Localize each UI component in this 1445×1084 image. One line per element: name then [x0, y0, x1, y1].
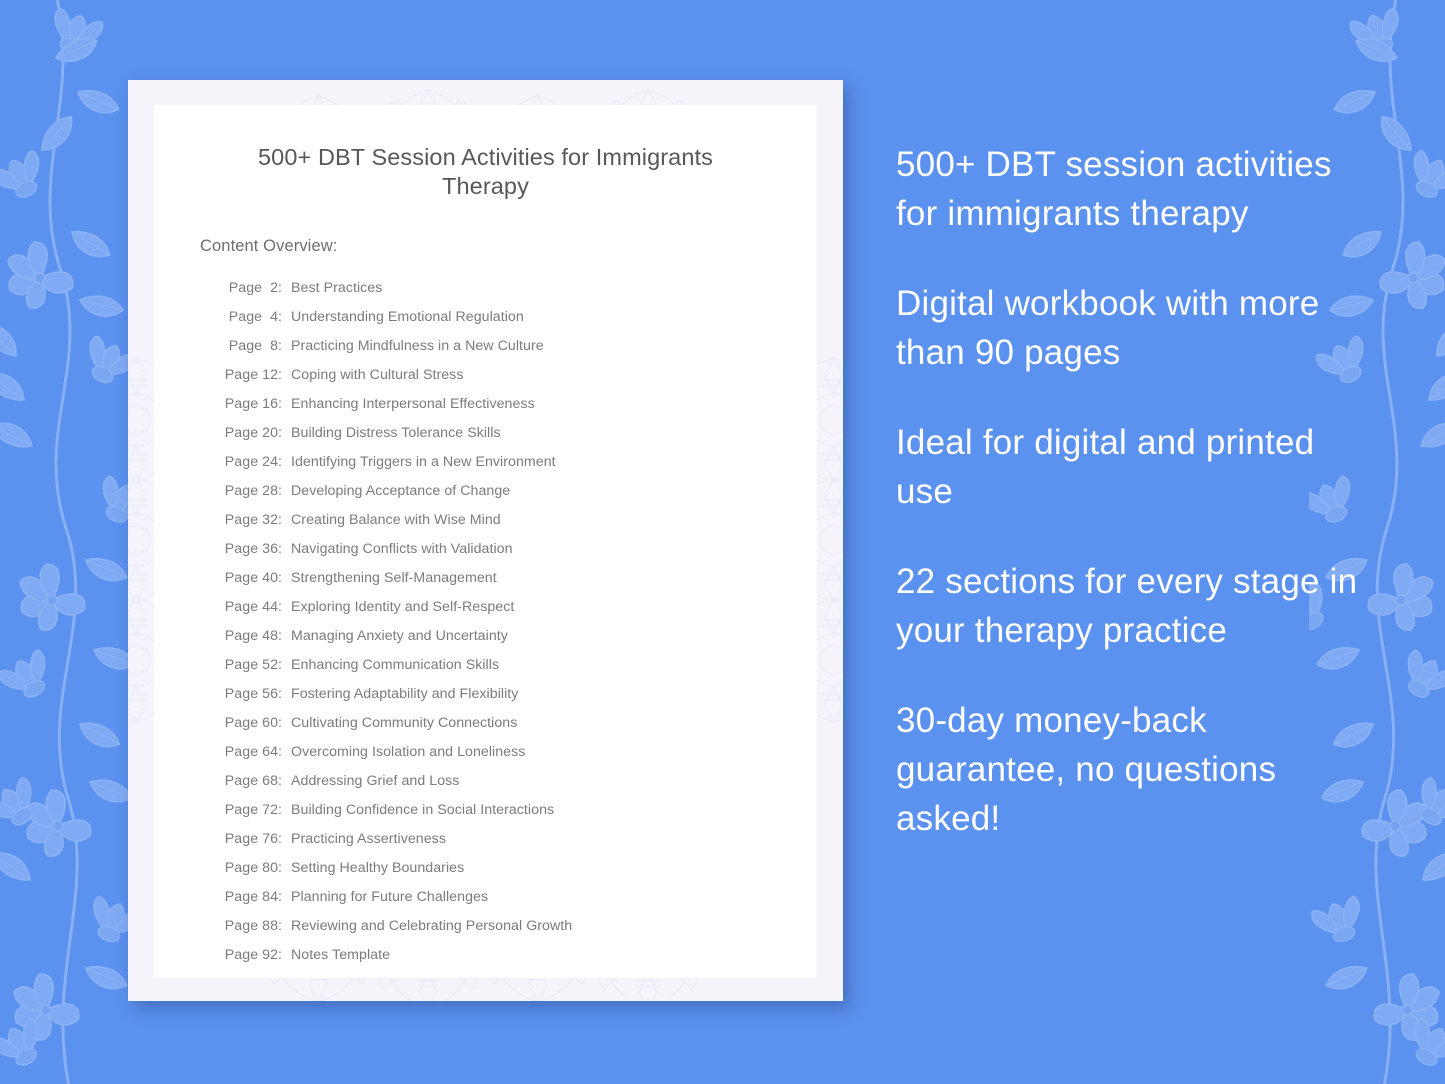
toc-section-title: Developing Acceptance of Change	[291, 477, 510, 506]
table-of-contents: Page 2:Best PracticesPage 4:Understandin…	[224, 274, 771, 970]
toc-page-number: Page 80:	[224, 854, 282, 883]
toc-row: Page 92:Notes Template	[224, 941, 771, 970]
toc-section-title: Understanding Emotional Regulation	[291, 303, 524, 332]
toc-row: Page 72:Building Confidence in Social In…	[224, 796, 771, 825]
toc-separator	[282, 709, 291, 738]
toc-separator	[282, 535, 291, 564]
workbook-page: 500+ DBT Session Activities for Immigran…	[154, 105, 817, 978]
toc-separator	[282, 593, 291, 622]
promo-text-block: 22 sections for every stage in your ther…	[896, 557, 1366, 655]
toc-section-title: Managing Anxiety and Uncertainty	[291, 622, 508, 651]
toc-separator	[282, 506, 291, 535]
toc-section-title: Reviewing and Celebrating Personal Growt…	[291, 912, 572, 941]
promo-column: 500+ DBT session activities for immigran…	[896, 140, 1366, 843]
toc-section-title: Fostering Adaptability and Flexibility	[291, 680, 518, 709]
toc-separator	[282, 912, 291, 941]
toc-section-title: Strengthening Self-Management	[291, 564, 497, 593]
toc-separator	[282, 303, 291, 332]
toc-page-number: Page 76:	[224, 825, 282, 854]
toc-page-number: Page 92:	[224, 941, 282, 970]
toc-separator	[282, 274, 291, 303]
toc-page-number: Page 68:	[224, 767, 282, 796]
toc-row: Page 8:Practicing Mindfulness in a New C…	[224, 332, 771, 361]
toc-row: Page 48:Managing Anxiety and Uncertainty	[224, 622, 771, 651]
toc-section-title: Navigating Conflicts with Validation	[291, 535, 513, 564]
toc-page-number: Page 60:	[224, 709, 282, 738]
toc-row: Page 76:Practicing Assertiveness	[224, 825, 771, 854]
toc-row: Page 4:Understanding Emotional Regulatio…	[224, 303, 771, 332]
toc-page-number: Page 36:	[224, 535, 282, 564]
toc-row: Page 20:Building Distress Tolerance Skil…	[224, 419, 771, 448]
toc-section-title: Cultivating Community Connections	[291, 709, 517, 738]
toc-separator	[282, 854, 291, 883]
promo-text-block: 30-day money-back guarantee, no question…	[896, 696, 1366, 843]
toc-section-title: Creating Balance with Wise Mind	[291, 506, 501, 535]
toc-separator	[282, 767, 291, 796]
toc-separator	[282, 883, 291, 912]
toc-section-title: Overcoming Isolation and Loneliness	[291, 738, 525, 767]
toc-separator	[282, 390, 291, 419]
toc-row: Page 28:Developing Acceptance of Change	[224, 477, 771, 506]
toc-section-title: Setting Healthy Boundaries	[291, 854, 464, 883]
toc-row: Page 60:Cultivating Community Connection…	[224, 709, 771, 738]
toc-section-title: Planning for Future Challenges	[291, 883, 488, 912]
toc-page-number: Page 44:	[224, 593, 282, 622]
toc-separator	[282, 622, 291, 651]
toc-separator	[282, 941, 291, 970]
toc-page-number: Page 16:	[224, 390, 282, 419]
toc-section-title: Addressing Grief and Loss	[291, 767, 459, 796]
toc-page-number: Page 32:	[224, 506, 282, 535]
toc-page-number: Page 8:	[224, 332, 282, 361]
toc-page-number: Page 20:	[224, 419, 282, 448]
toc-section-title: Exploring Identity and Self-Respect	[291, 593, 514, 622]
workbook-preview-card: 500+ DBT Session Activities for Immigran…	[128, 80, 843, 1001]
toc-row: Page 64:Overcoming Isolation and Lonelin…	[224, 738, 771, 767]
toc-row: Page 2:Best Practices	[224, 274, 771, 303]
promo-text-block: 500+ DBT session activities for immigran…	[896, 140, 1366, 238]
toc-page-number: Page 52:	[224, 651, 282, 680]
content-overview-label: Content Overview:	[200, 237, 771, 256]
toc-row: Page 84:Planning for Future Challenges	[224, 883, 771, 912]
toc-separator	[282, 361, 291, 390]
toc-separator	[282, 651, 291, 680]
promo-text-block: Digital workbook with more than 90 pages	[896, 279, 1366, 377]
toc-section-title: Enhancing Communication Skills	[291, 651, 499, 680]
toc-separator	[282, 738, 291, 767]
toc-page-number: Page 84:	[224, 883, 282, 912]
toc-page-number: Page 24:	[224, 448, 282, 477]
toc-separator	[282, 477, 291, 506]
toc-page-number: Page 12:	[224, 361, 282, 390]
toc-section-title: Identifying Triggers in a New Environmen…	[291, 448, 556, 477]
promo-text-block: Ideal for digital and printed use	[896, 418, 1366, 516]
toc-row: Page 12:Coping with Cultural Stress	[224, 361, 771, 390]
toc-section-title: Coping with Cultural Stress	[291, 361, 463, 390]
toc-page-number: Page 48:	[224, 622, 282, 651]
toc-page-number: Page 40:	[224, 564, 282, 593]
toc-section-title: Building Distress Tolerance Skills	[291, 419, 501, 448]
page-title: 500+ DBT Session Activities for Immigran…	[200, 143, 771, 201]
toc-page-number: Page 64:	[224, 738, 282, 767]
toc-row: Page 56:Fostering Adaptability and Flexi…	[224, 680, 771, 709]
toc-row: Page 36:Navigating Conflicts with Valida…	[224, 535, 771, 564]
toc-row: Page 40:Strengthening Self-Management	[224, 564, 771, 593]
toc-row: Page 80:Setting Healthy Boundaries	[224, 854, 771, 883]
toc-separator	[282, 419, 291, 448]
toc-section-title: Practicing Assertiveness	[291, 825, 446, 854]
toc-section-title: Best Practices	[291, 274, 382, 303]
toc-separator	[282, 680, 291, 709]
toc-page-number: Page 56:	[224, 680, 282, 709]
toc-separator	[282, 332, 291, 361]
toc-section-title: Building Confidence in Social Interactio…	[291, 796, 554, 825]
floral-vine-icon	[0, 0, 144, 1084]
toc-row: Page 52:Enhancing Communication Skills	[224, 651, 771, 680]
toc-row: Page 44:Exploring Identity and Self-Resp…	[224, 593, 771, 622]
toc-section-title: Enhancing Interpersonal Effectiveness	[291, 390, 535, 419]
toc-page-number: Page 28:	[224, 477, 282, 506]
toc-separator	[282, 796, 291, 825]
toc-page-number: Page 2:	[224, 274, 282, 303]
toc-separator	[282, 564, 291, 593]
toc-row: Page 32:Creating Balance with Wise Mind	[224, 506, 771, 535]
toc-separator	[282, 825, 291, 854]
toc-row: Page 88:Reviewing and Celebrating Person…	[224, 912, 771, 941]
toc-section-title: Practicing Mindfulness in a New Culture	[291, 332, 544, 361]
toc-separator	[282, 448, 291, 477]
toc-page-number: Page 88:	[224, 912, 282, 941]
toc-row: Page 24:Identifying Triggers in a New En…	[224, 448, 771, 477]
toc-page-number: Page 4:	[224, 303, 282, 332]
toc-section-title: Notes Template	[291, 941, 390, 970]
toc-row: Page 68:Addressing Grief and Loss	[224, 767, 771, 796]
toc-page-number: Page 72:	[224, 796, 282, 825]
toc-row: Page 16:Enhancing Interpersonal Effectiv…	[224, 390, 771, 419]
